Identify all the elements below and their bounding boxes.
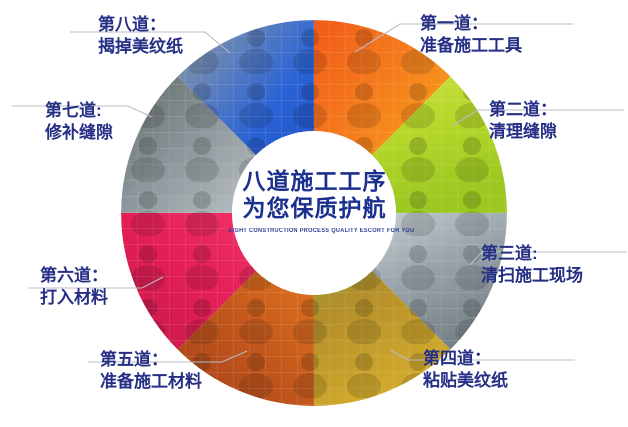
step-6-subtitle: 打入材料 — [40, 287, 108, 309]
step-label-7[interactable]: 第七道: 修补缝隙 — [45, 100, 113, 144]
step-3-subtitle: 清扫施工现场 — [481, 265, 583, 287]
step-label-8[interactable]: 第八道： 揭掉美纹纸 — [98, 14, 183, 58]
step-label-4[interactable]: 第四道： 粘贴美纹纸 — [423, 348, 508, 392]
step-6-title: 第六道： — [40, 265, 108, 287]
wheel-hub — [232, 131, 396, 295]
step-label-3[interactable]: 第三道: 清扫施工现场 — [481, 243, 583, 287]
infographic-canvas: 第一道： 准备施工工具 第二道： 清理缝隙 第三道: 清扫施工现场 第四道： 粘… — [0, 0, 628, 427]
step-1-title: 第一道： — [420, 13, 522, 35]
step-4-subtitle: 粘贴美纹纸 — [423, 370, 508, 392]
step-2-subtitle: 清理缝隙 — [489, 121, 557, 143]
step-5-title: 第五道： — [100, 349, 202, 371]
step-label-1[interactable]: 第一道： 准备施工工具 — [420, 13, 522, 57]
step-2-title: 第二道： — [489, 99, 557, 121]
step-3-title: 第三道: — [481, 243, 583, 265]
step-8-title: 第八道： — [98, 14, 183, 36]
step-label-2[interactable]: 第二道： 清理缝隙 — [489, 99, 557, 143]
step-8-subtitle: 揭掉美纹纸 — [98, 36, 183, 58]
step-1-subtitle: 准备施工工具 — [420, 35, 522, 57]
step-4-title: 第四道： — [423, 348, 508, 370]
step-7-subtitle: 修补缝隙 — [45, 122, 113, 144]
step-5-subtitle: 准备施工材料 — [100, 371, 202, 393]
step-label-5[interactable]: 第五道： 准备施工材料 — [100, 349, 202, 393]
step-7-title: 第七道: — [45, 100, 113, 122]
step-label-6[interactable]: 第六道： 打入材料 — [40, 265, 108, 309]
